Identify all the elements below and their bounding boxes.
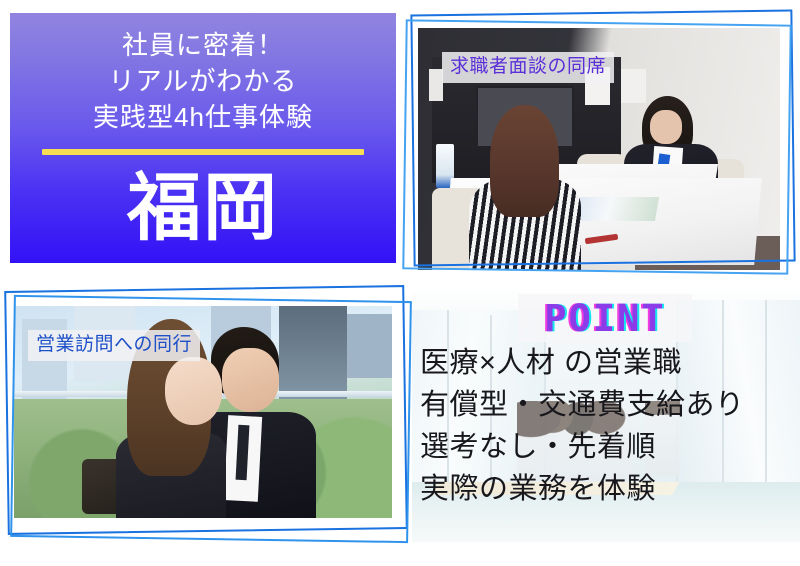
point-list: 医療×人材 の営業職 有償型・交通費支給あり 選考なし・先着順 実際の業務を体験 <box>420 342 800 510</box>
point-badge: POINT <box>518 294 692 342</box>
headline-line-2: リアルがわかる <box>10 63 396 99</box>
point-item-2: 有償型・交通費支給あり <box>420 384 800 426</box>
location-name: 福岡 <box>10 165 396 251</box>
yellow-divider <box>42 149 364 155</box>
point-card-panel: POINT 医療×人材 の営業職 有償型・交通費支給あり 選考なし・先着順 実際… <box>412 290 800 542</box>
point-item-4: 実際の業務を体験 <box>420 468 800 510</box>
title-card-panel: 社員に密着！ リアルがわかる 実践型4h仕事体験 福岡 <box>10 13 396 263</box>
sales-visit-frame-inner <box>10 295 412 543</box>
interview-frame-inner <box>402 19 791 274</box>
title-headline: 社員に密着！ リアルがわかる 実践型4h仕事体験 <box>10 27 396 135</box>
poster-canvas: 社員に密着！ リアルがわかる 実践型4h仕事体験 福岡 <box>0 0 800 566</box>
headline-line-3: 実践型4h仕事体験 <box>10 99 396 135</box>
point-item-3: 選考なし・先着順 <box>420 426 800 468</box>
point-item-1: 医療×人材 の営業職 <box>420 342 800 384</box>
headline-line-1: 社員に密着！ <box>10 27 396 63</box>
point-badge-label: POINT <box>518 294 692 342</box>
